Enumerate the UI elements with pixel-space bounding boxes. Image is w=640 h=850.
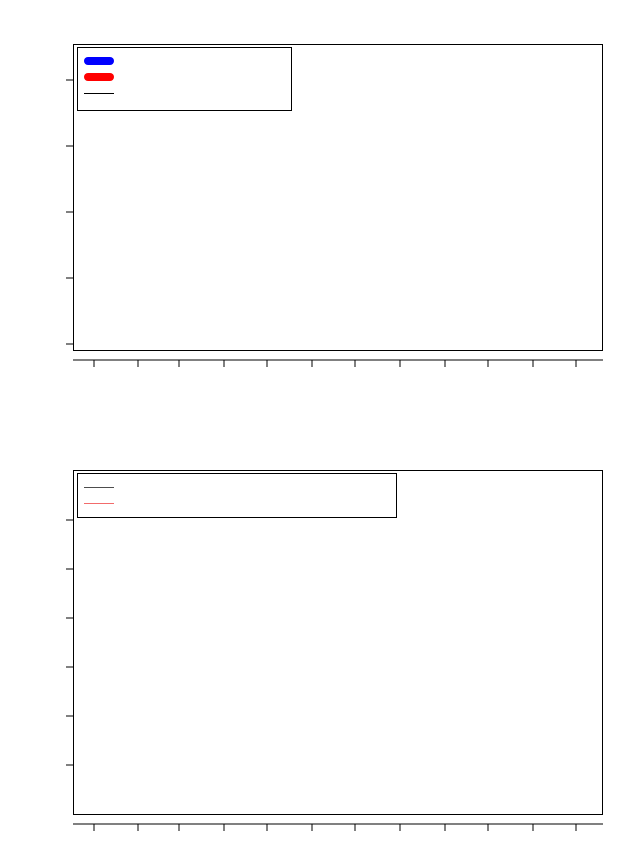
top-chart-panel — [0, 0, 640, 430]
red-line-icon — [78, 503, 120, 504]
top-legend — [77, 47, 292, 111]
gray-line-icon — [78, 487, 120, 488]
bottom-legend — [77, 473, 397, 518]
chart-page — [0, 0, 640, 850]
black-line-icon — [78, 93, 120, 94]
red-swatch-icon — [78, 73, 120, 81]
bottom-chart-panel — [0, 430, 640, 850]
bottom-legend-item-observed — [78, 479, 396, 495]
blue-swatch-icon — [78, 57, 120, 65]
top-legend-item-negative — [78, 69, 291, 85]
top-legend-item-positive — [78, 53, 291, 69]
top-legend-item-climatology — [78, 85, 291, 101]
bottom-legend-item-climatology — [78, 495, 396, 511]
